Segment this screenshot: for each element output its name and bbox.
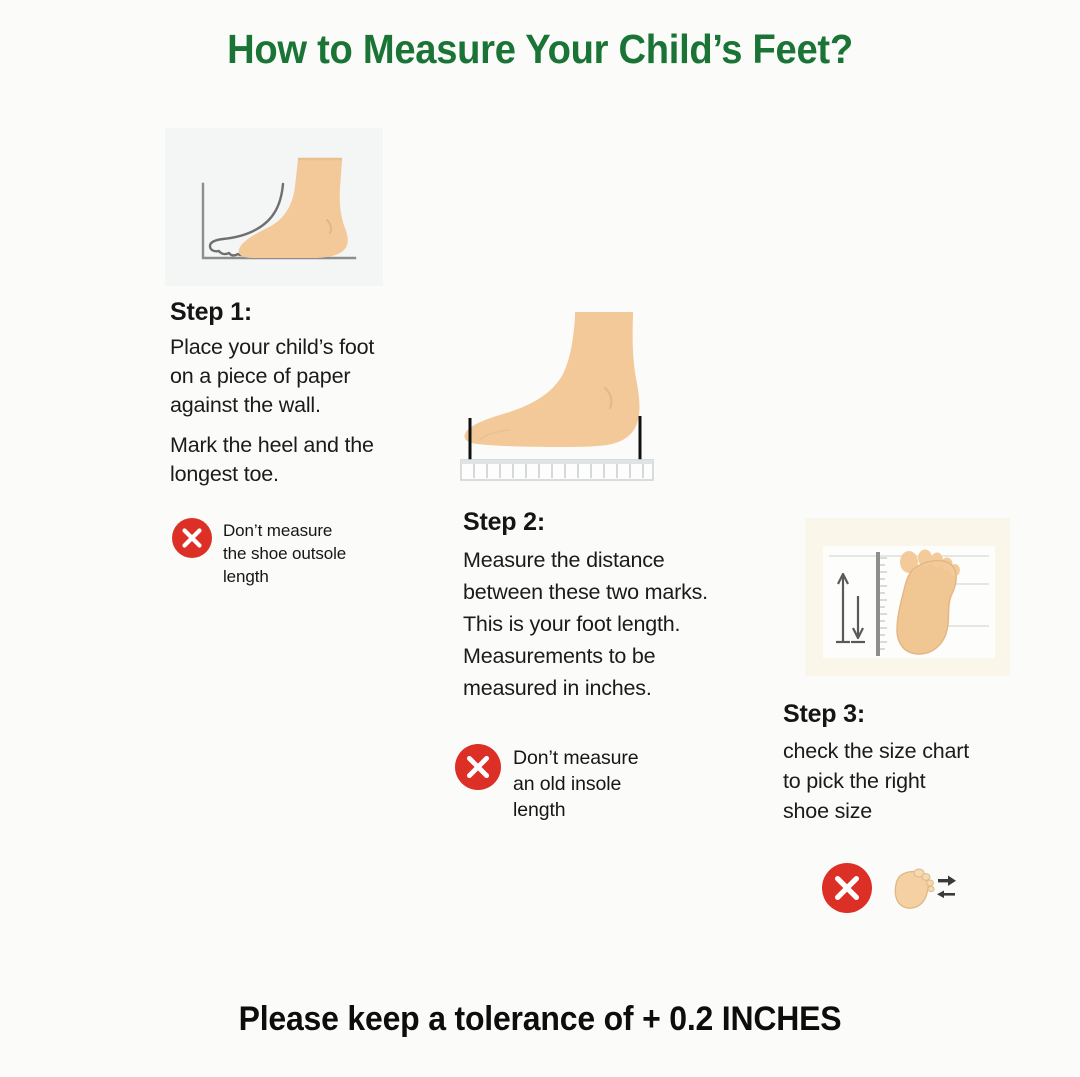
step1-warning-text: Don’t measure the shoe outsole length bbox=[223, 518, 346, 588]
step3-heading: Step 3: bbox=[783, 700, 865, 729]
step2-warning-line-2: an old insole bbox=[513, 771, 639, 797]
step1-body-line-4: Mark the heel and the bbox=[170, 431, 420, 460]
step2-body-line-5: measured in inches. bbox=[463, 672, 783, 704]
page-title: How to Measure Your Child’s Feet? bbox=[38, 26, 1042, 73]
step2-warning-line-1: Don’t measure bbox=[513, 745, 639, 771]
step2-body-line-3: This is your foot length. bbox=[463, 608, 783, 640]
step1-body-line-2: on a piece of paper bbox=[170, 362, 420, 391]
step1-warning-line-1: Don’t measure bbox=[223, 519, 346, 542]
foot-with-arrows-icon bbox=[886, 862, 958, 914]
step1-heading: Step 1: bbox=[170, 298, 252, 327]
step1-body-line-3: against the wall. bbox=[170, 391, 420, 420]
step1-warning-line-2: the shoe outsole bbox=[223, 542, 346, 565]
step2-body-line-2: between these two marks. bbox=[463, 576, 783, 608]
step3-body-line-2: to pick the right bbox=[783, 766, 1033, 796]
step3-body-line-1: check the size chart bbox=[783, 736, 1033, 766]
red-x-circle-icon bbox=[822, 863, 872, 913]
step3-size-chart-illustration bbox=[805, 518, 1010, 676]
step1-body-line-1: Place your child’s foot bbox=[170, 333, 420, 362]
step2-warning-line-3: length bbox=[513, 797, 639, 823]
step1-body-text: Place your child’s foot on a piece of pa… bbox=[170, 333, 420, 489]
step3-body-text: check the size chart to pick the right s… bbox=[783, 736, 1033, 826]
step1-warning-badge: Don’t measure the shoe outsole length bbox=[172, 518, 346, 588]
step1-warning-line-3: length bbox=[223, 565, 346, 588]
step2-warning-text: Don’t measure an old insole length bbox=[513, 744, 639, 823]
step2-warning-badge: Don’t measure an old insole length bbox=[455, 744, 639, 823]
step3-illustration-panel bbox=[805, 518, 1010, 676]
step1-foot-against-wall-illustration bbox=[165, 128, 383, 286]
tolerance-note: Please keep a tolerance of + 0.2 INCHES bbox=[32, 1000, 1047, 1039]
step1-body-line-5: longest toe. bbox=[170, 460, 420, 489]
red-x-circle-icon bbox=[172, 518, 212, 558]
step2-body-text: Measure the distance between these two m… bbox=[463, 544, 783, 704]
step1-illustration-panel bbox=[165, 128, 383, 286]
red-x-circle-icon bbox=[455, 744, 501, 790]
infographic-page: How to Measure Your Child’s Feet? Step 1… bbox=[0, 0, 1080, 1077]
step2-body-line-4: Measurements to be bbox=[463, 640, 783, 672]
step3-body-line-3: shoe size bbox=[783, 796, 1033, 826]
step2-heading: Step 2: bbox=[463, 508, 545, 537]
step3-warning-badge bbox=[822, 862, 958, 914]
step2-foot-with-ruler-illustration bbox=[455, 300, 695, 485]
step2-body-line-1: Measure the distance bbox=[463, 544, 783, 576]
step2-illustration-panel bbox=[455, 300, 695, 485]
